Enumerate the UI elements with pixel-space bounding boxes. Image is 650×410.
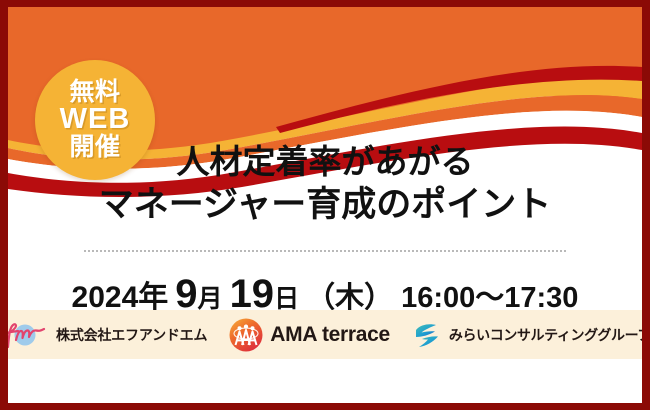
badge-line-held: 開催 — [69, 135, 120, 161]
ama-terrace-people-icon — [229, 318, 263, 352]
banner-canvas: 無料 WEB 開催 人材定着率があがる マネージャー育成のポイント 2024年 … — [8, 7, 642, 403]
sponsor-logo-band: 株式会社エフアンドエム — [8, 310, 642, 359]
logo-fm: 株式会社エフアンドエム — [8, 318, 207, 352]
mirai-swoosh-icon — [412, 320, 442, 350]
fm-script-mark-icon — [8, 320, 49, 350]
badge-line-web: WEB — [60, 105, 131, 135]
webinar-banner: 無料 WEB 開催 人材定着率があがる マネージャー育成のポイント 2024年 … — [0, 0, 650, 410]
logo-ama-terrace: AMA terrace — [229, 318, 390, 352]
logo-fm-label: 株式会社エフアンドエム — [56, 325, 207, 345]
logo-ama-terrace-label: AMA terrace — [270, 323, 390, 347]
logo-mirai: みらいコンサルティンググループ — [412, 318, 642, 352]
badge-line-free: 無料 — [69, 80, 120, 106]
title-line-2: マネージャー育成のポイント — [8, 183, 642, 227]
free-web-badge: 無料 WEB 開催 — [35, 60, 155, 180]
logo-mirai-label: みらいコンサルティンググループ — [449, 325, 642, 345]
dotted-divider — [84, 250, 566, 252]
